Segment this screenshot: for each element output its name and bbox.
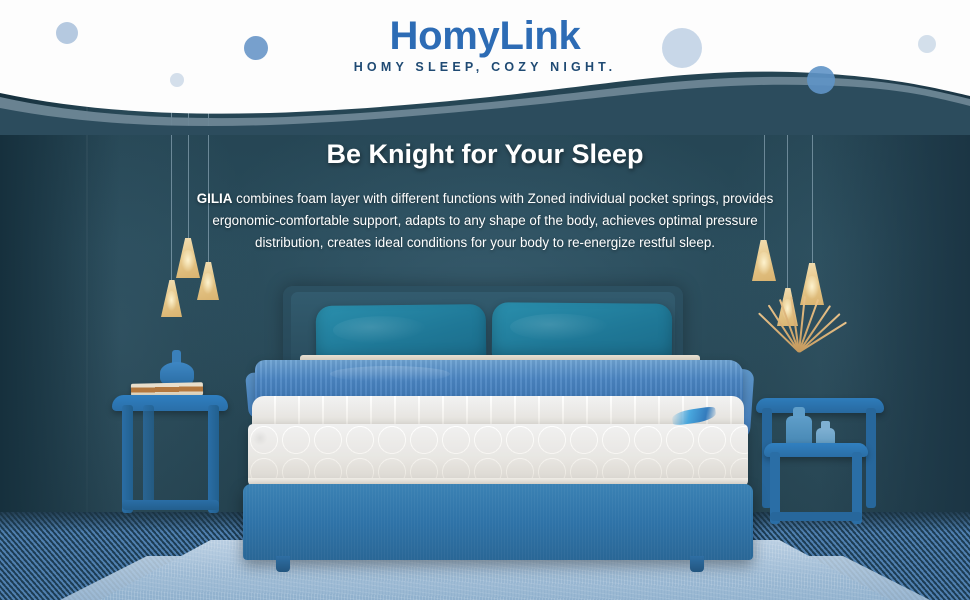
hero-body-copy: GILIA combines foam layer with different… <box>195 188 775 254</box>
brand-tagline: HOMY SLEEP, COZY NIGHT. <box>0 60 970 74</box>
table-leg <box>866 408 876 508</box>
table-stretcher <box>122 500 219 510</box>
table-leg <box>208 405 219 513</box>
blanket-fold <box>330 366 450 382</box>
decorative-circle <box>170 73 184 87</box>
brand-logo: HomyLink <box>0 14 970 59</box>
table-stretcher <box>770 512 862 521</box>
body-text: combines foam layer with different funct… <box>212 191 773 250</box>
table-lamp-base <box>160 362 194 384</box>
table-leg <box>122 405 133 513</box>
mattress-side-quilted <box>248 424 748 484</box>
lamp-cord <box>171 110 172 284</box>
hero-headline: Be Knight for Your Sleep <box>0 139 970 170</box>
product-banner: HomyLink HOMY SLEEP, COZY NIGHT. Be Knig… <box>0 0 970 600</box>
bed-leg <box>276 556 290 572</box>
body-highlight-term: GILIA <box>197 191 233 206</box>
table-leg <box>143 405 154 505</box>
bed-base <box>243 484 753 560</box>
table-top-tall <box>756 398 884 413</box>
bed-leg <box>690 556 704 572</box>
